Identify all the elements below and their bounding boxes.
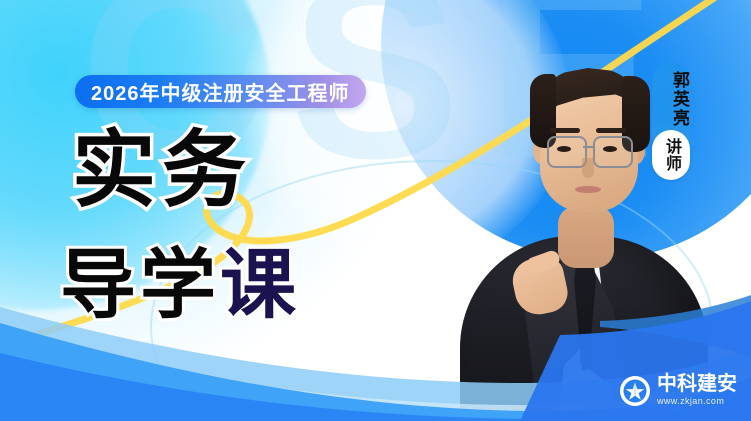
eyeglasses-lens-right — [593, 136, 633, 168]
page-subtitle: 导学课 — [60, 248, 300, 324]
page-title: 实务 — [72, 128, 252, 212]
eyeglasses-bridge — [583, 146, 595, 148]
instructor-badge: 郭英亮 讲师 — [652, 62, 690, 180]
neck — [558, 206, 614, 268]
eyebrow-left — [550, 128, 580, 133]
course-badge: 2026年中级注册安全工程师 — [75, 75, 366, 108]
eye-left — [557, 146, 571, 152]
eyebrow-right — [596, 128, 626, 133]
course-badge-label: 2026年中级注册安全工程师 — [91, 77, 350, 106]
mouth — [575, 186, 601, 193]
star-logo-icon — [620, 376, 650, 406]
course-poster: CSE 2026年 — [0, 0, 751, 421]
brand-text: 中科建安 www.zkjan.com — [657, 374, 737, 407]
nose — [582, 158, 594, 178]
eye-right — [603, 146, 617, 152]
brand-url: www.zkjan.com — [657, 396, 737, 407]
page-subtitle-part-a: 导学 — [60, 243, 220, 328]
brand-logo[interactable]: 中科建安 www.zkjan.com — [620, 374, 737, 407]
brand-name: 中科建安 — [657, 374, 737, 395]
page-subtitle-part-b: 课 — [220, 243, 300, 328]
eyeglasses-lens-left — [547, 136, 587, 168]
instructor-role: 讲师 — [652, 130, 690, 180]
